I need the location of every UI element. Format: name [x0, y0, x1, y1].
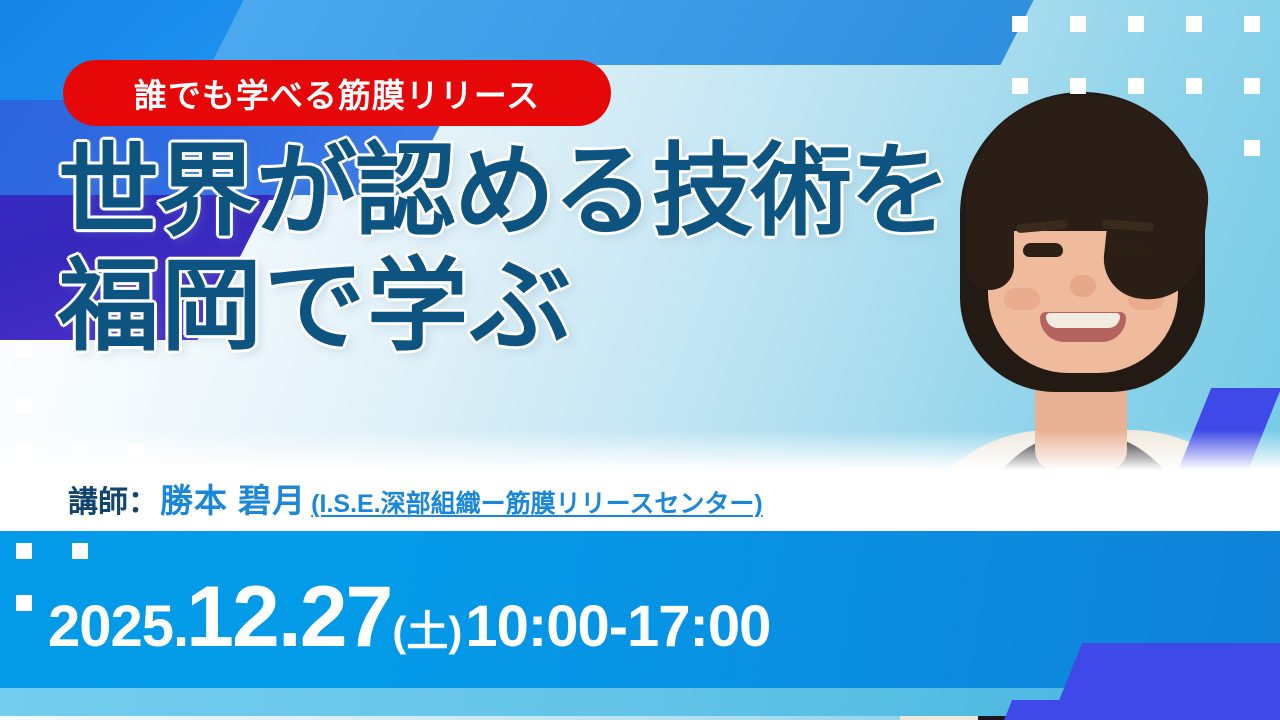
- decor-dot: [1186, 16, 1202, 32]
- decor-dot: [72, 543, 88, 559]
- event-year: 2025.: [48, 593, 188, 660]
- lecturer-name: 勝本 碧月: [160, 474, 306, 522]
- decor-dot: [1186, 78, 1202, 94]
- promo-banner: 誰でも学べる筋膜リリース 世界が認める技術を 福岡で学ぶ 講師： 勝本 碧月 (…: [0, 0, 1280, 720]
- headline: 世界が認める技術を 福岡で学ぶ: [58, 143, 1018, 357]
- decor-dot: [1128, 16, 1144, 32]
- decor-dot: [128, 444, 144, 460]
- decor-dot: [16, 342, 32, 358]
- decor-dot: [1244, 78, 1260, 94]
- decor-dot: [16, 595, 32, 611]
- decor-dot: [72, 444, 88, 460]
- lecturer-label: 講師：: [68, 477, 158, 521]
- decor-dot: [1128, 78, 1144, 94]
- photo-eye-right: [1107, 243, 1147, 257]
- decor-dot: [16, 398, 32, 414]
- photo-eye-left: [1023, 243, 1063, 257]
- decor-dot: [16, 444, 32, 460]
- headline-line-2: 福岡で学ぶ: [58, 258, 1018, 357]
- decor-royal-chevron-lower: [988, 700, 1222, 720]
- decor-dot: [1012, 78, 1028, 94]
- event-date: 2025. 12.27 (土) 10:00-17:00: [48, 568, 770, 667]
- decor-dot: [16, 543, 32, 559]
- photo-teeth: [1046, 313, 1120, 328]
- decor-dot: [1244, 140, 1260, 156]
- event-day-of-week: (土): [392, 598, 462, 659]
- decor-dot: [1012, 16, 1028, 32]
- lecturer-line: 講師： 勝本 碧月 (I.S.E.深部組織ー筋膜リリースセンター): [68, 474, 763, 522]
- lecturer-organization: (I.S.E.深部組織ー筋膜リリースセンター): [311, 484, 763, 520]
- event-time: 10:00-17:00: [465, 593, 770, 660]
- decor-dot: [1244, 16, 1260, 32]
- tagline-badge-text: 誰でも学べる筋膜リリース: [134, 69, 540, 117]
- decor-dot: [1070, 78, 1086, 94]
- photo-nose: [1070, 275, 1096, 297]
- event-day: 12.27: [186, 568, 391, 667]
- decor-dot: [1070, 16, 1086, 32]
- headline-line-1: 世界が認める技術を: [58, 143, 1018, 242]
- tagline-badge: 誰でも学べる筋膜リリース: [63, 60, 611, 126]
